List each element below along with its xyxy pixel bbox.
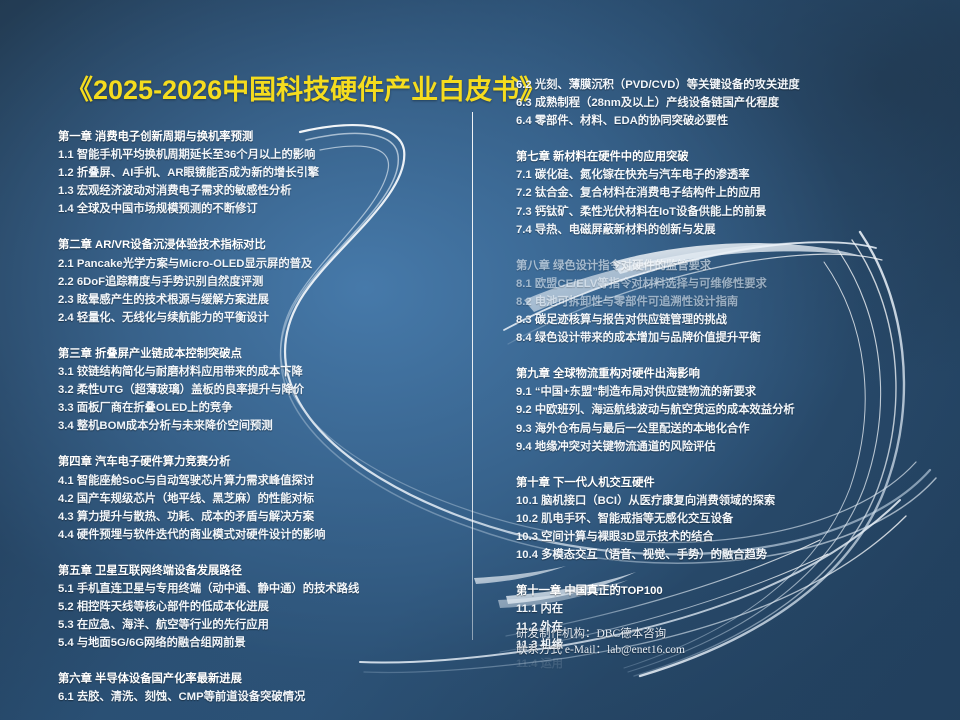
- page-title: 《2025-2026中国科技硬件产业白皮书》: [66, 68, 546, 107]
- chapter-heading[interactable]: 第六章 半导体设备国产化率最新进展: [58, 670, 458, 688]
- chapter-heading[interactable]: 第八章 绿色设计指令对硬件的监管要求: [516, 257, 936, 275]
- chapter-heading[interactable]: 第七章 新材料在硬件中的应用突破: [516, 148, 936, 166]
- chapter-item[interactable]: 7.1 碳化硅、氮化镓在快充与汽车电子的渗透率: [516, 166, 936, 184]
- chapter-item[interactable]: 1.1 智能手机平均换机周期延长至36个月以上的影响: [58, 146, 458, 164]
- chapter-heading[interactable]: 第十一章 中国真正的TOP100: [516, 582, 936, 600]
- toc-chapter: 第六章 半导体设备国产化率最新进展6.1 去胶、清洗、刻蚀、CMP等前道设备突破…: [58, 670, 458, 706]
- chapter-item[interactable]: 10.3 空间计算与裸眼3D显示技术的结合: [516, 528, 936, 546]
- chapter-item[interactable]: 3.4 整机BOM成本分析与未来降价空间预测: [58, 417, 458, 435]
- toc-right-column: 6.2 光刻、薄膜沉积（PVD/CVD）等关键设备的攻关进度6.3 成熟制程（2…: [516, 76, 936, 673]
- chapter-item[interactable]: 2.3 眩晕感产生的技术根源与缓解方案进展: [58, 291, 458, 309]
- toc-chapter: 第一章 消费电子创新周期与换机率预测1.1 智能手机平均换机周期延长至36个月以…: [58, 128, 458, 218]
- chapter-item[interactable]: 4.2 国产车规级芯片（地平线、黑芝麻）的性能对标: [58, 490, 458, 508]
- chapter-item[interactable]: 10.4 多模态交互（语音、视觉、手势）的融合趋势: [516, 546, 936, 564]
- column-divider: [472, 112, 473, 640]
- chapter-heading[interactable]: 第四章 汽车电子硬件算力竞赛分析: [58, 453, 458, 471]
- toc-chapter: 第十章 下一代人机交互硬件10.1 脑机接口（BCI）从医疗康复向消费领域的探索…: [516, 474, 936, 564]
- chapter-item[interactable]: 4.4 硬件预埋与软件迭代的商业模式对硬件设计的影响: [58, 526, 458, 544]
- toc-chapter: 第三章 折叠屏产业链成本控制突破点3.1 铰链结构简化与耐磨材料应用带来的成本下…: [58, 345, 458, 435]
- chapter-item[interactable]: 5.1 手机直连卫星与专用终端（动中通、静中通）的技术路线: [58, 580, 458, 598]
- chapter-item[interactable]: 6.2 光刻、薄膜沉积（PVD/CVD）等关键设备的攻关进度: [516, 76, 936, 94]
- chapter-item[interactable]: 1.3 宏观经济波动对消费电子需求的敏感性分析: [58, 182, 458, 200]
- chapter-item[interactable]: 7.2 钛合金、复合材料在消费电子结构件上的应用: [516, 184, 936, 202]
- chapter-item[interactable]: 9.3 海外仓布局与最后一公里配送的本地化合作: [516, 420, 936, 438]
- toc-chapter: 第七章 新材料在硬件中的应用突破7.1 碳化硅、氮化镓在快充与汽车电子的渗透率7…: [516, 148, 936, 238]
- chapter-item[interactable]: 2.4 轻量化、无线化与续航能力的平衡设计: [58, 309, 458, 327]
- chapter-item[interactable]: 1.4 全球及中国市场规模预测的不断修订: [58, 200, 458, 218]
- chapter-heading[interactable]: 第五章 卫星互联网终端设备发展路径: [58, 562, 458, 580]
- chapter-item[interactable]: 8.3 碳足迹核算与报告对供应链管理的挑战: [516, 311, 936, 329]
- chapter-item[interactable]: 9.1 “中国+东盟”制造布局对供应链物流的新要求: [516, 383, 936, 401]
- chapter-heading[interactable]: 第十章 下一代人机交互硬件: [516, 474, 936, 492]
- chapter-item[interactable]: 6.4 零部件、材料、EDA的协同突破必要性: [516, 112, 936, 130]
- chapter-item[interactable]: 5.3 在应急、海洋、航空等行业的先行应用: [58, 616, 458, 634]
- chapter-item[interactable]: 8.2 电池可拆卸性与零部件可追溯性设计指南: [516, 293, 936, 311]
- toc-chapter: 第九章 全球物流重构对硬件出海影响9.1 “中国+东盟”制造布局对供应链物流的新…: [516, 365, 936, 455]
- chapter-item[interactable]: 5.2 相控阵天线等核心部件的低成本化进展: [58, 598, 458, 616]
- chapter-item[interactable]: 3.1 铰链结构简化与耐磨材料应用带来的成本下降: [58, 363, 458, 381]
- toc-left-column: 第一章 消费电子创新周期与换机率预测1.1 智能手机平均换机周期延长至36个月以…: [58, 128, 458, 707]
- chapter-item[interactable]: 10.1 脑机接口（BCI）从医疗康复向消费领域的探索: [516, 492, 936, 510]
- chapter-item[interactable]: 9.2 中欧班列、海运航线波动与航空货运的成本效益分析: [516, 401, 936, 419]
- chapter-item[interactable]: 8.4 绿色设计带来的成本增加与品牌价值提升平衡: [516, 329, 936, 347]
- chapter-item[interactable]: 11.1 内在: [516, 600, 936, 618]
- chapter-item[interactable]: 6.1 去胶、清洗、刻蚀、CMP等前道设备突破情况: [58, 688, 458, 706]
- toc-chapter: 第二章 AR/VR设备沉浸体验技术指标对比2.1 Pancake光学方案与Mic…: [58, 236, 458, 326]
- chapter-heading[interactable]: 第二章 AR/VR设备沉浸体验技术指标对比: [58, 236, 458, 254]
- chapter-item[interactable]: 8.1 欧盟CE/ELV等指令对材料选择与可维修性要求: [516, 275, 936, 293]
- toc-chapter: 第四章 汽车电子硬件算力竞赛分析4.1 智能座舱SoC与自动驾驶芯片算力需求峰值…: [58, 453, 458, 543]
- chapter-item[interactable]: 6.3 成熟制程（28nm及以上）产线设备链国产化程度: [516, 94, 936, 112]
- chapter-item[interactable]: 4.1 智能座舱SoC与自动驾驶芯片算力需求峰值探讨: [58, 472, 458, 490]
- chapter-item[interactable]: 10.2 肌电手环、智能戒指等无感化交互设备: [516, 510, 936, 528]
- chapter-item[interactable]: 7.4 导热、电磁屏蔽新材料的创新与发展: [516, 221, 936, 239]
- footer-contact: 联系方式 e-Mail：lab@enet16.com: [516, 642, 685, 658]
- toc-chapter: 第五章 卫星互联网终端设备发展路径5.1 手机直连卫星与专用终端（动中通、静中通…: [58, 562, 458, 652]
- chapter-item[interactable]: 2.1 Pancake光学方案与Micro-OLED显示屏的普及: [58, 255, 458, 273]
- chapter-heading[interactable]: 第九章 全球物流重构对硬件出海影响: [516, 365, 936, 383]
- chapter-item[interactable]: 9.4 地缘冲突对关键物流通道的风险评估: [516, 438, 936, 456]
- footer-organization: 研发制作机构：DBC德本咨询: [516, 626, 685, 642]
- chapter-item[interactable]: 7.3 钙钛矿、柔性光伏材料在IoT设备供能上的前景: [516, 203, 936, 221]
- chapter-item[interactable]: 3.3 面板厂商在折叠OLED上的竞争: [58, 399, 458, 417]
- chapter-heading[interactable]: 第三章 折叠屏产业链成本控制突破点: [58, 345, 458, 363]
- toc-chapter: 6.2 光刻、薄膜沉积（PVD/CVD）等关键设备的攻关进度6.3 成熟制程（2…: [516, 76, 936, 130]
- chapter-item[interactable]: 1.2 折叠屏、AI手机、AR眼镜能否成为新的增长引擎: [58, 164, 458, 182]
- chapter-item[interactable]: 5.4 与地面5G/6G网络的融合组网前景: [58, 634, 458, 652]
- chapter-heading[interactable]: 第一章 消费电子创新周期与换机率预测: [58, 128, 458, 146]
- chapter-item[interactable]: 4.3 算力提升与散热、功耗、成本的矛盾与解决方案: [58, 508, 458, 526]
- slide-canvas: 《2025-2026中国科技硬件产业白皮书》 第一章 消费电子创新周期与换机率预…: [0, 0, 960, 720]
- toc-chapter: 第八章 绿色设计指令对硬件的监管要求8.1 欧盟CE/ELV等指令对材料选择与可…: [516, 257, 936, 347]
- footer-credits: 研发制作机构：DBC德本咨询 联系方式 e-Mail：lab@enet16.co…: [516, 626, 685, 658]
- chapter-item[interactable]: 2.2 6DoF追踪精度与手势识别自然度评测: [58, 273, 458, 291]
- chapter-item[interactable]: 3.2 柔性UTG（超薄玻璃）盖板的良率提升与降价: [58, 381, 458, 399]
